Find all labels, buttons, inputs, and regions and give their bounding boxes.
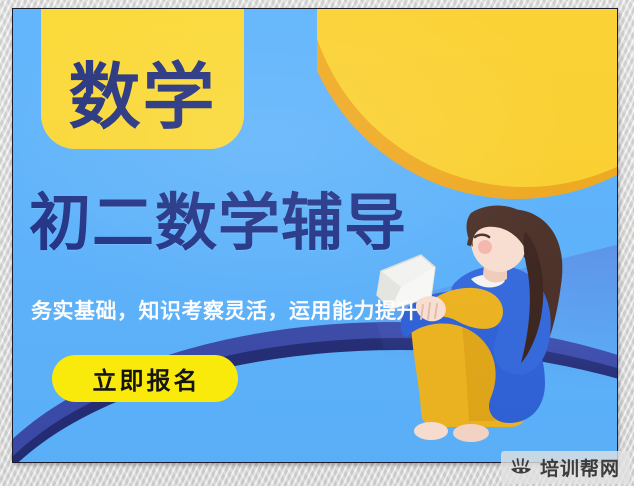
foot-right — [453, 424, 489, 442]
subject-badge-label: 数学 — [68, 61, 216, 133]
watermark-label: 培训帮网 — [540, 454, 620, 481]
enroll-now-button[interactable]: 立即报名 — [52, 355, 238, 402]
subject-badge: 数学 — [41, 8, 244, 149]
course-promo-banner: 数学 初二数学辅导 务实基础，知识考察灵活，运用能力提升 立即报名 — [12, 8, 618, 463]
sunburst-eye-icon — [509, 458, 533, 478]
headline-title: 初二数学辅导 — [29, 191, 407, 255]
foot-left — [414, 422, 448, 440]
swoosh-yellow-layer — [317, 9, 617, 187]
subtitle-text: 务实基础，知识考察灵活，运用能力提升 — [31, 301, 418, 322]
watermark: 培训帮网 — [501, 451, 630, 484]
page-background: 数学 初二数学辅导 务实基础，知识考察灵活，运用能力提升 立即报名 — [0, 0, 634, 486]
cheek-blush — [478, 240, 492, 254]
